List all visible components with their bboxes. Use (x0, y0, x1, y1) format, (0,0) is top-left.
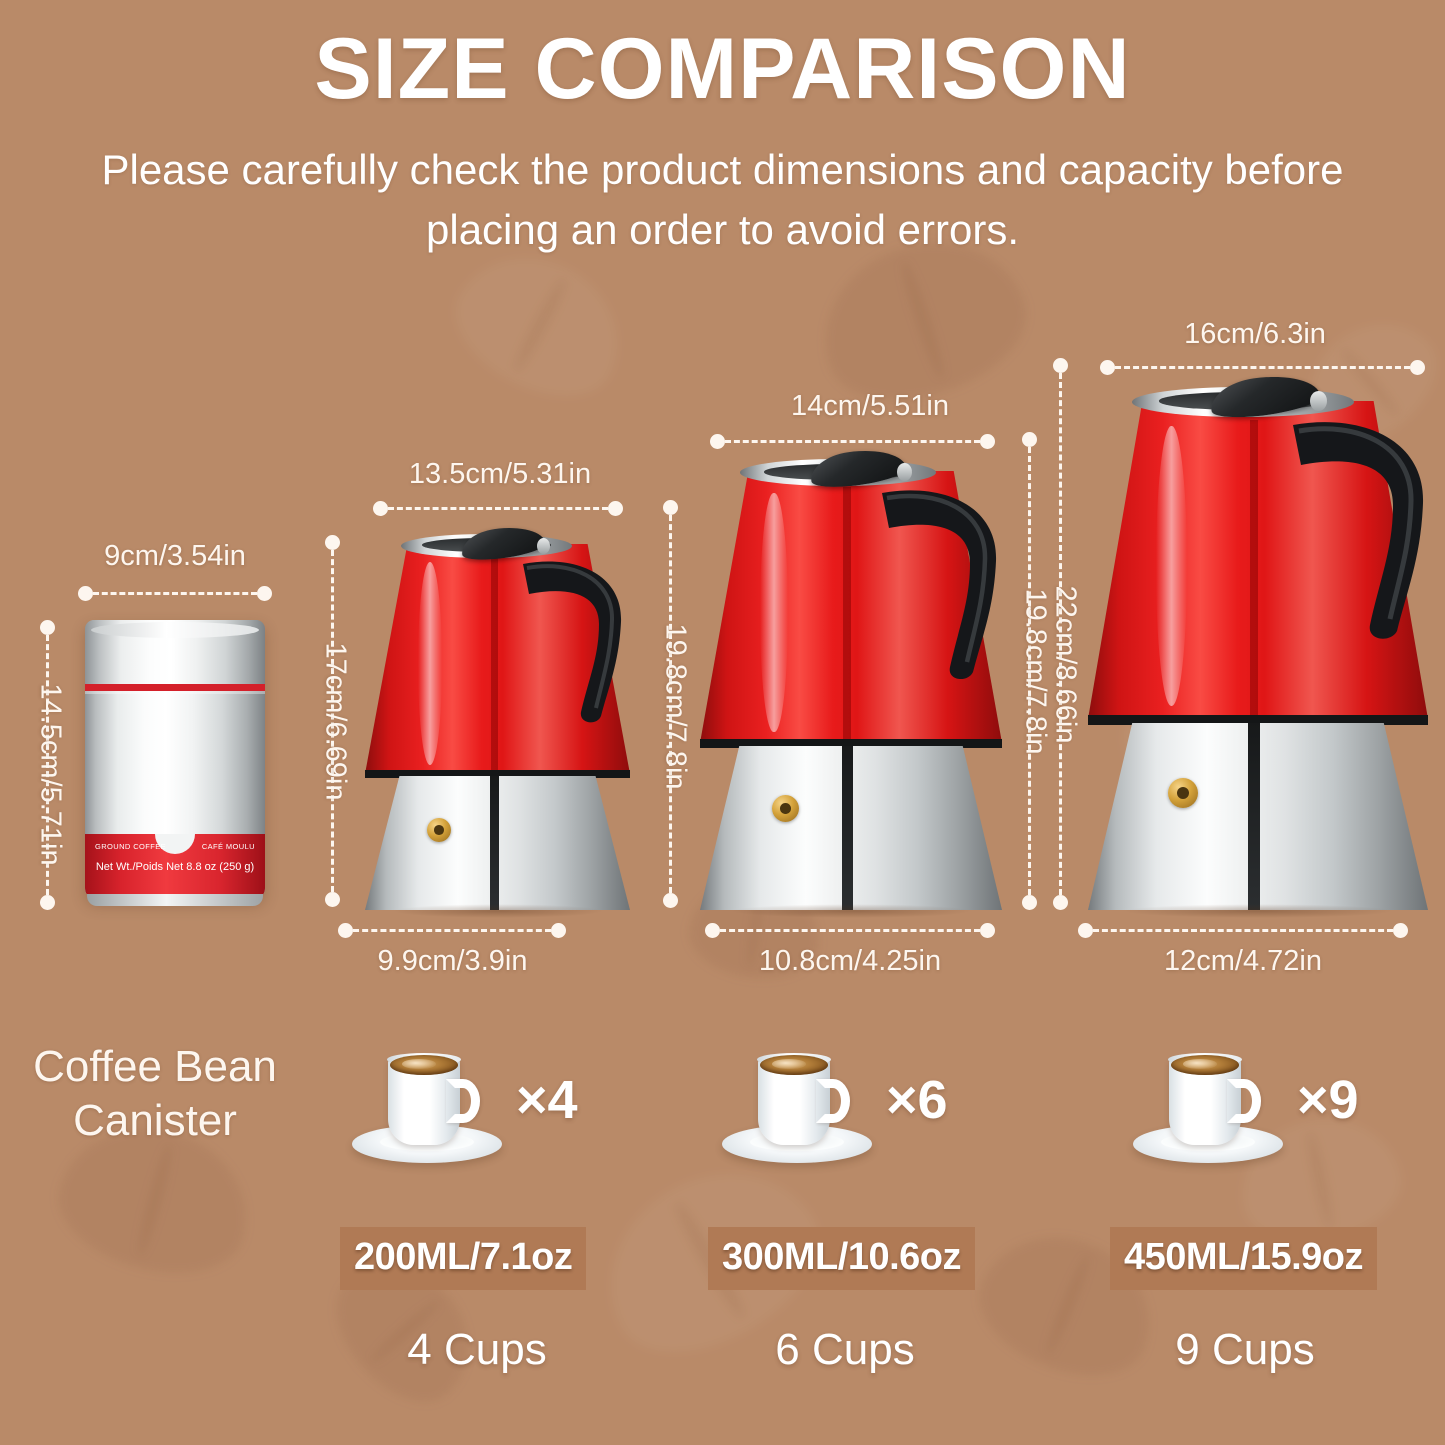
coffee-bean-canister-image: GROUND COFFEE CAFÉ MOULU Net Wt./Poids N… (85, 620, 265, 900)
coffee-cup-icon (352, 1035, 502, 1165)
dimension-endpoint-dot (1053, 895, 1068, 910)
cups-label-6: 6 Cups (720, 1325, 970, 1375)
capacity-badge-9-cup: 450ML/15.9oz (1110, 1227, 1377, 1290)
canister-lid-top (91, 622, 259, 638)
canister-stripe-highlight (85, 691, 265, 694)
pot-body-seam (843, 487, 851, 743)
canister-width-dimension (78, 588, 272, 598)
pot-body-highlight (760, 493, 787, 732)
dimension-endpoint-dot (980, 434, 995, 449)
dimension-line (1115, 366, 1410, 369)
dimension-endpoint-dot (338, 923, 353, 938)
pot-body-seam (491, 558, 498, 774)
moka-pot-9-cup-image (1088, 383, 1428, 910)
capacity-badge-6-cup: 300ML/10.6oz (708, 1227, 975, 1290)
dimension-endpoint-dot (608, 501, 623, 516)
pot-handle (513, 550, 633, 725)
pot-shadow (392, 904, 604, 918)
pot1-bottom-width-dimension (338, 925, 566, 935)
cup-handle (1227, 1079, 1261, 1123)
pot-handle (870, 477, 1010, 682)
canister-lid (85, 620, 265, 684)
canister-label-text-fr: CAFÉ MOULU (202, 842, 255, 851)
latte-art-surface (1171, 1055, 1239, 1075)
canister-net-weight: Net Wt./Poids Net 8.8 oz (250 g) (85, 861, 265, 873)
dimension-endpoint-dot (705, 923, 720, 938)
dimension-line (725, 440, 980, 443)
canister-height-label: 14.5cm/5.71in (34, 645, 67, 905)
pot2-bottom-width-label: 10.8cm/4.25in (672, 945, 1028, 978)
header: SIZE COMPARISON Please carefully check t… (0, 0, 1445, 259)
dimension-line (720, 929, 980, 932)
pot-body-highlight (1156, 426, 1187, 706)
pot2-bottom-width-dimension (705, 925, 995, 935)
pot1-top-width-label: 13.5cm/5.31in (320, 458, 680, 491)
dimension-line (93, 592, 257, 595)
dimension-endpoint-dot (1053, 358, 1068, 373)
pot-safety-valve (1168, 778, 1198, 808)
canister-name-label: Coffee Bean Canister (0, 1040, 310, 1147)
pot1-bottom-width-label: 9.9cm/3.9in (300, 945, 605, 978)
cups-label-4: 4 Cups (352, 1325, 602, 1375)
cup-group-4: ×4 (352, 1035, 578, 1165)
pot-lid-hinge (897, 463, 912, 481)
dimension-endpoint-dot (78, 586, 93, 601)
canister-base (87, 894, 263, 906)
pot1-height-label: 19.8cm/7.8in (659, 577, 692, 837)
pot-body-highlight (418, 562, 442, 764)
dimension-endpoint-dot (1410, 360, 1425, 375)
canister-body: GROUND COFFEE CAFÉ MOULU Net Wt./Poids N… (85, 620, 265, 900)
pot2-top-width-label: 14cm/5.51in (690, 390, 1050, 423)
capacity-badge-4-cup: 200ML/7.1oz (340, 1227, 586, 1290)
pot1-secondary-height-label: 17cm/6.69in (319, 592, 352, 852)
canister-name-text: Coffee Bean Canister (33, 1042, 277, 1145)
pot-shadow (730, 904, 972, 918)
pot3-height-label: 22cm/8.66in (1049, 535, 1082, 795)
coffee-cup-icon (722, 1035, 872, 1165)
canister-label: GROUND COFFEE CAFÉ MOULU Net Wt./Poids N… (85, 834, 265, 900)
dimension-endpoint-dot (551, 923, 566, 938)
latte-art-surface (760, 1055, 828, 1075)
pot-base-seam (490, 776, 499, 910)
canister-width-label: 9cm/3.54in (85, 540, 265, 573)
page-title: SIZE COMPARISON (0, 0, 1445, 112)
dimension-endpoint-dot (1393, 923, 1408, 938)
pot2-top-width-dimension (710, 436, 995, 446)
pot2-height-label: 19.8cm/7.8in (1019, 542, 1052, 802)
dimension-line (353, 929, 551, 932)
pot1-top-width-dimension (373, 503, 623, 513)
pot-chrome-base (1088, 723, 1428, 910)
pot3-top-width-dimension (1100, 362, 1425, 372)
pot-lid-hinge (537, 538, 550, 554)
pot-lid-hinge (1310, 391, 1327, 411)
pot-chrome-base (700, 746, 1002, 910)
canister-label-text-en: GROUND COFFEE (95, 842, 166, 851)
dimension-endpoint-dot (1078, 923, 1093, 938)
moka-pot-4-cup-image (365, 530, 630, 910)
pot-shadow (1122, 904, 1394, 918)
dimension-line (388, 507, 608, 510)
pot-handle (1280, 407, 1438, 642)
cup-handle (816, 1079, 850, 1123)
latte-art-surface (390, 1055, 458, 1075)
pot-safety-valve (427, 818, 451, 842)
dimension-endpoint-dot (663, 500, 678, 515)
pot3-top-width-label: 16cm/6.3in (1085, 318, 1425, 351)
pot-body-seam (1250, 420, 1259, 719)
dimension-endpoint-dot (257, 586, 272, 601)
moka-pot-6-cup-image (700, 455, 1002, 910)
pot-base-seam (842, 746, 853, 910)
cup-handle (446, 1079, 480, 1123)
dimension-endpoint-dot (1100, 360, 1115, 375)
dimension-endpoint-dot (373, 501, 388, 516)
cup-group-9: ×9 (1133, 1035, 1359, 1165)
dimension-endpoint-dot (1022, 895, 1037, 910)
pot3-bottom-width-dimension (1078, 925, 1408, 935)
cup-count-6: ×6 (886, 1069, 948, 1131)
pot3-bottom-width-label: 12cm/4.72in (1073, 945, 1413, 978)
pot-base-seam (1248, 723, 1260, 910)
cup-count-9: ×9 (1297, 1069, 1359, 1131)
dimension-endpoint-dot (1022, 432, 1037, 447)
cup-count-4: ×4 (516, 1069, 578, 1131)
coffee-cup-icon (1133, 1035, 1283, 1165)
dimension-line (1093, 929, 1393, 932)
dimension-endpoint-dot (325, 535, 340, 550)
dimension-endpoint-dot (40, 620, 55, 635)
dimension-endpoint-dot (710, 434, 725, 449)
cups-label-9: 9 Cups (1120, 1325, 1370, 1375)
dimension-endpoint-dot (980, 923, 995, 938)
dimension-endpoint-dot (325, 892, 340, 907)
pot-chrome-base (365, 776, 630, 910)
page-subtitle: Please carefully check the product dimen… (0, 140, 1445, 259)
pot-safety-valve (772, 795, 799, 822)
dimension-endpoint-dot (663, 893, 678, 908)
canister-red-stripe (85, 684, 265, 691)
cup-group-6: ×6 (722, 1035, 948, 1165)
